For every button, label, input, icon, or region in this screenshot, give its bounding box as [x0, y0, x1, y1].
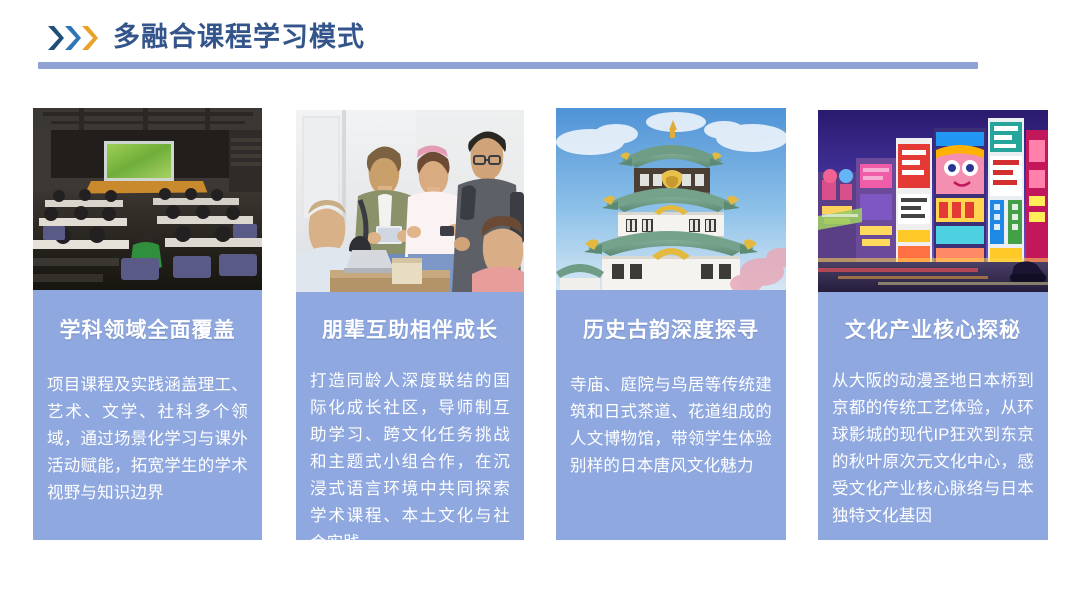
card-description: 从大阪的动漫圣地日本桥到京都的传统工艺体验，从环球影城的现代IP狂欢到东京的秋叶… — [832, 368, 1034, 530]
card-image-lecture-hall — [33, 108, 262, 290]
card-grid: 学科领域全面覆盖 项目课程及实践涵盖理工、艺术、文学、社科多个领域，通过场景化学… — [0, 0, 1080, 607]
slide-root: 多融合课程学习模式 — [0, 0, 1080, 607]
card-description: 项目课程及实践涵盖理工、艺术、文学、社科多个领域，通过场景化学习与课外活动赋能，… — [47, 372, 248, 507]
feature-card-1[interactable]: 学科领域全面覆盖 项目课程及实践涵盖理工、艺术、文学、社科多个领域，通过场景化学… — [33, 108, 262, 540]
feature-card-2[interactable]: 朋辈互助相伴成长 打造同龄人深度联结的国际化成长社区，导师制互助学习、跨文化任务… — [296, 110, 524, 540]
card-title: 朋辈互助相伴成长 — [310, 318, 510, 344]
card-body: 文化产业核心探秘 从大阪的动漫圣地日本桥到京都的传统工艺体验，从环球影城的现代I… — [818, 292, 1048, 530]
card-body: 历史古韵深度探寻 寺庙、庭院与鸟居等传统建筑和日式茶道、花道组成的人文博物馆，带… — [556, 290, 786, 480]
card-body: 学科领域全面覆盖 项目课程及实践涵盖理工、艺术、文学、社科多个领域，通过场景化学… — [33, 290, 262, 507]
card-title: 历史古韵深度探寻 — [570, 318, 772, 344]
card-description: 寺庙、庭院与鸟居等传统建筑和日式茶道、花道组成的人文博物馆，带领学生体验别样的日… — [570, 372, 772, 480]
card-body: 朋辈互助相伴成长 打造同龄人深度联结的国际化成长社区，导师制互助学习、跨文化任务… — [296, 292, 524, 540]
feature-card-3[interactable]: 历史古韵深度探寻 寺庙、庭院与鸟居等传统建筑和日式茶道、花道组成的人文博物馆，带… — [556, 108, 786, 540]
card-image-student-group — [296, 110, 524, 292]
feature-card-4[interactable]: 文化产业核心探秘 从大阪的动漫圣地日本桥到京都的传统工艺体验，从环球影城的现代I… — [818, 110, 1048, 540]
card-title: 文化产业核心探秘 — [832, 318, 1034, 344]
card-title: 学科领域全面覆盖 — [47, 318, 248, 344]
card-image-akihabara-street — [818, 110, 1048, 292]
card-image-osaka-castle — [556, 108, 786, 290]
card-description: 打造同龄人深度联结的国际化成长社区，导师制互助学习、跨文化任务挑战和主题式小组合… — [310, 368, 510, 540]
